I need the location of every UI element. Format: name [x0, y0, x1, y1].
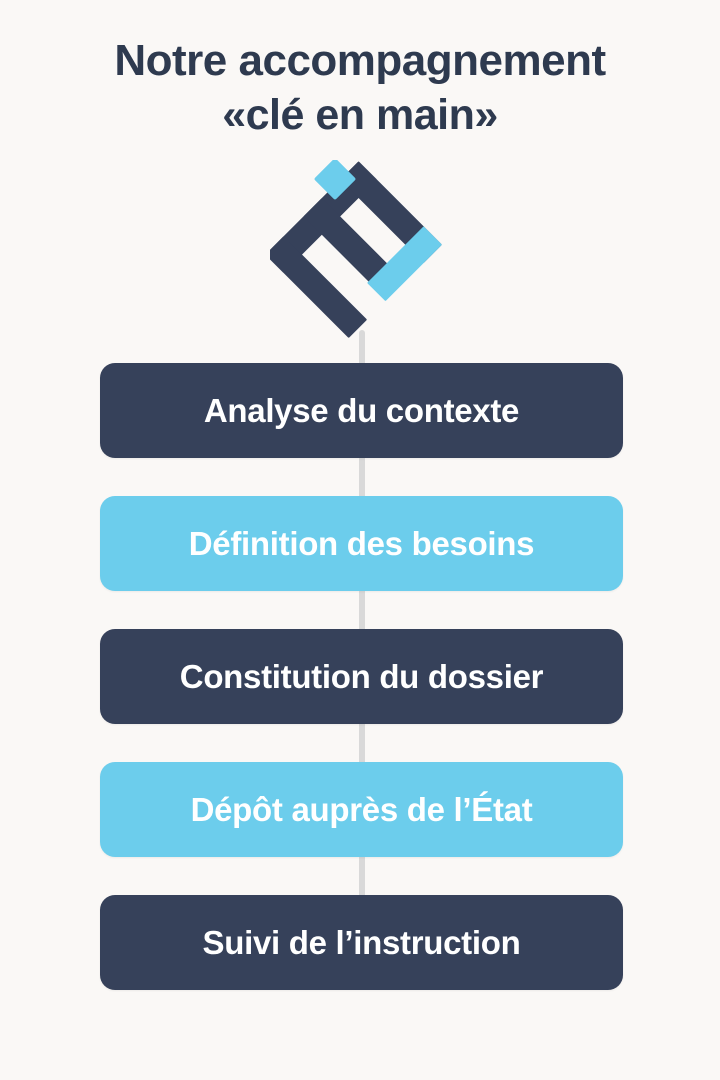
process-step-3-label: Constitution du dossier — [180, 658, 543, 696]
process-step-2[interactable]: Définition des besoins — [100, 496, 623, 591]
process-step-5[interactable]: Suivi de l’instruction — [100, 895, 623, 990]
process-step-4[interactable]: Dépôt auprès de l’État — [100, 762, 623, 857]
process-step-1[interactable]: Analyse du contexte — [100, 363, 623, 458]
process-step-1-label: Analyse du contexte — [204, 392, 519, 430]
process-step-2-label: Définition des besoins — [189, 525, 534, 563]
process-step-4-label: Dépôt auprès de l’État — [191, 791, 533, 829]
page-title: Notre accompagnement «clé en main» — [0, 34, 720, 142]
title-line-1: Notre accompagnement — [0, 34, 720, 88]
process-step-list: Analyse du contexte Définition des besoi… — [100, 363, 623, 990]
process-step-3[interactable]: Constitution du dossier — [100, 629, 623, 724]
process-step-5-label: Suivi de l’instruction — [203, 924, 521, 962]
brand-logo — [270, 160, 450, 340]
e-diamond-logo-icon — [270, 160, 450, 340]
title-line-2: «clé en main» — [0, 88, 720, 142]
infographic-canvas: Notre accompagnement «clé en main» Analy… — [0, 0, 720, 1080]
